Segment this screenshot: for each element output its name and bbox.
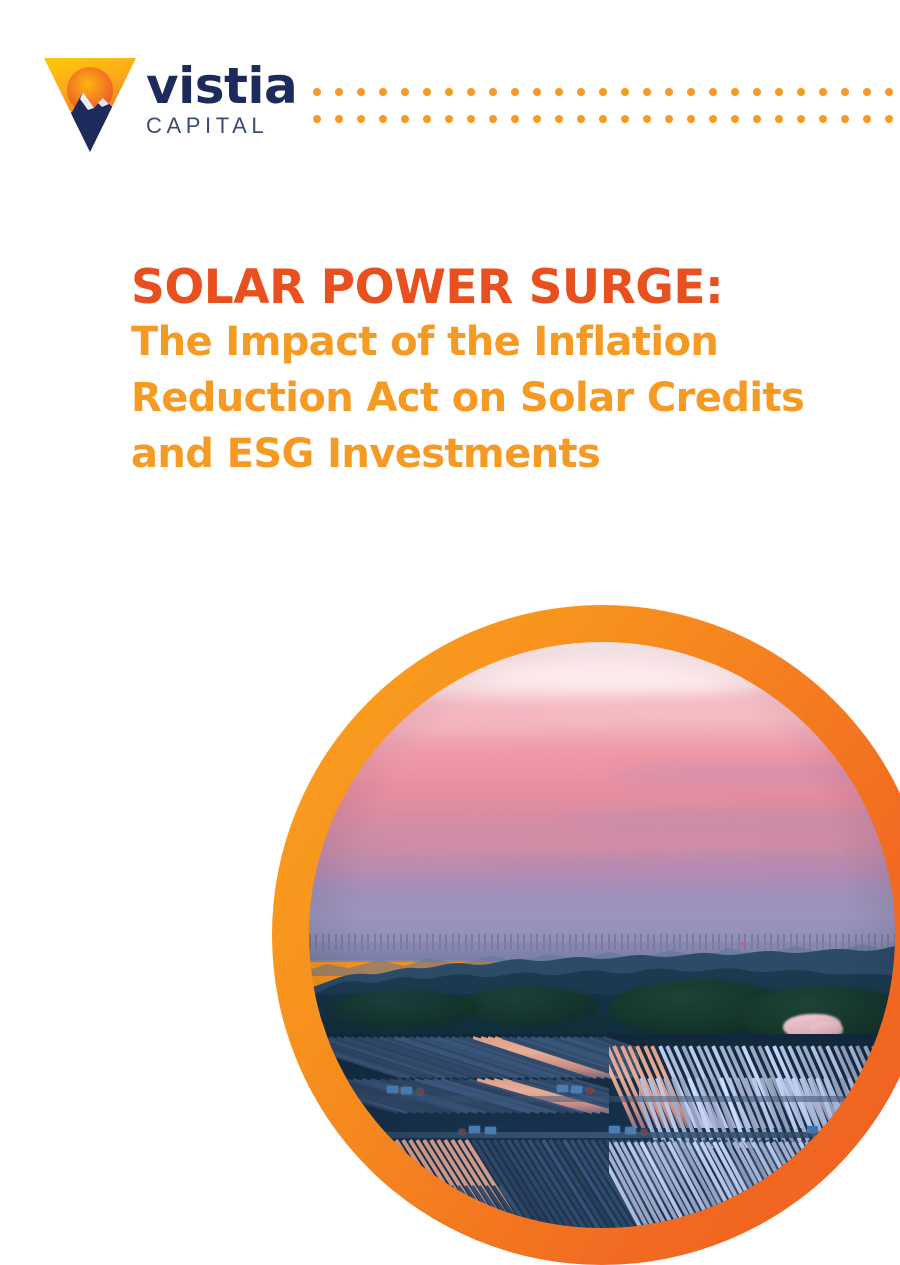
dot: [599, 115, 607, 123]
dot: [753, 88, 761, 96]
page-subtitle-line: The Impact of the Inflation: [131, 314, 831, 370]
brand-wordmark: vistia CAPITAL: [146, 60, 316, 139]
dot: [819, 115, 827, 123]
dot: [401, 88, 409, 96]
dot: [687, 88, 695, 96]
dot: [489, 88, 497, 96]
dot: [709, 115, 717, 123]
brand-logo[interactable]: vistia CAPITAL: [42, 52, 282, 152]
dot: [775, 115, 783, 123]
dot: [709, 88, 717, 96]
dot: [665, 88, 673, 96]
dot: [643, 115, 651, 123]
dot: [841, 115, 849, 123]
dot: [357, 115, 365, 123]
hero-photo-scene: [309, 642, 895, 1228]
dot: [621, 88, 629, 96]
hero-image-container: [272, 605, 900, 1185]
dot: [577, 88, 585, 96]
dot: [445, 88, 453, 96]
page-subtitle-line: Reduction Act on Solar Credits: [131, 370, 831, 426]
dot: [665, 115, 673, 123]
cover-header: vistia CAPITAL: [0, 0, 900, 190]
brand-wordmark-main: vistia: [146, 60, 316, 112]
dot: [841, 88, 849, 96]
dot: [533, 115, 541, 123]
dot: [533, 88, 541, 96]
dot: [511, 88, 519, 96]
dot: [797, 88, 805, 96]
dot: [577, 115, 585, 123]
dot-grid-row: [313, 115, 900, 123]
brand-wordmark-sub: CAPITAL: [146, 113, 316, 139]
dot: [467, 115, 475, 123]
dot: [313, 88, 321, 96]
dot: [885, 115, 893, 123]
dot: [775, 88, 783, 96]
dot: [797, 115, 805, 123]
dot: [863, 115, 871, 123]
hero-photo: [309, 642, 895, 1228]
dot: [313, 115, 321, 123]
dot: [599, 88, 607, 96]
dot: [687, 115, 695, 123]
dot: [423, 115, 431, 123]
dot-grid-decoration: [313, 88, 900, 130]
dot: [423, 88, 431, 96]
dot: [401, 115, 409, 123]
dot: [379, 115, 387, 123]
dot: [731, 88, 739, 96]
dot-grid-row: [313, 88, 900, 96]
cover-title-block: SOLAR POWER SURGE: The Impact of the Inf…: [131, 262, 831, 482]
dot: [511, 115, 519, 123]
vistia-v-mountain-sun-logo: [42, 54, 138, 154]
dot: [885, 88, 893, 96]
dot: [753, 115, 761, 123]
dot: [819, 88, 827, 96]
page-subtitle: The Impact of the InflationReduction Act…: [131, 314, 831, 482]
dot: [863, 88, 871, 96]
page-title: SOLAR POWER SURGE:: [131, 262, 831, 314]
dot: [489, 115, 497, 123]
dot: [643, 88, 651, 96]
photo-vignette: [309, 642, 895, 1228]
dot: [467, 88, 475, 96]
dot: [357, 88, 365, 96]
dot: [731, 115, 739, 123]
dot: [335, 88, 343, 96]
dot: [379, 88, 387, 96]
dot: [621, 115, 629, 123]
dot: [555, 88, 563, 96]
dot: [445, 115, 453, 123]
dot: [555, 115, 563, 123]
page-subtitle-line: and ESG Investments: [131, 426, 831, 482]
dot: [335, 115, 343, 123]
